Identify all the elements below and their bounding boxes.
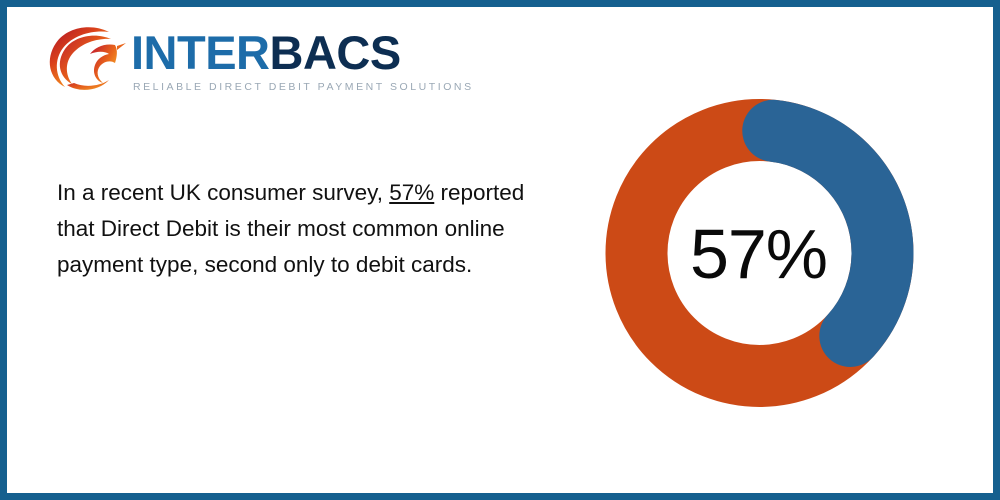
statement-lead: In a recent UK consumer survey,: [57, 180, 389, 205]
statement-highlight: 57%: [389, 180, 434, 205]
infographic-canvas: INTERBACS RELIABLE DIRECT DEBIT PAYMENT …: [0, 0, 1000, 500]
brand-tagline: RELIABLE DIRECT DEBIT PAYMENT SOLUTIONS: [133, 81, 474, 93]
wordmark-bacs: BACS: [270, 26, 401, 79]
donut-chart: 57%: [597, 92, 922, 417]
brand-logo[interactable]: INTERBACS RELIABLE DIRECT DEBIT PAYMENT …: [45, 21, 435, 93]
statement-text: In a recent UK consumer survey, 57% repo…: [57, 175, 557, 283]
wordmark-inter: INTER: [131, 26, 270, 79]
interbacs-phoenix-mark-icon: [45, 23, 127, 91]
brand-wordmark: INTERBACS: [131, 29, 401, 76]
